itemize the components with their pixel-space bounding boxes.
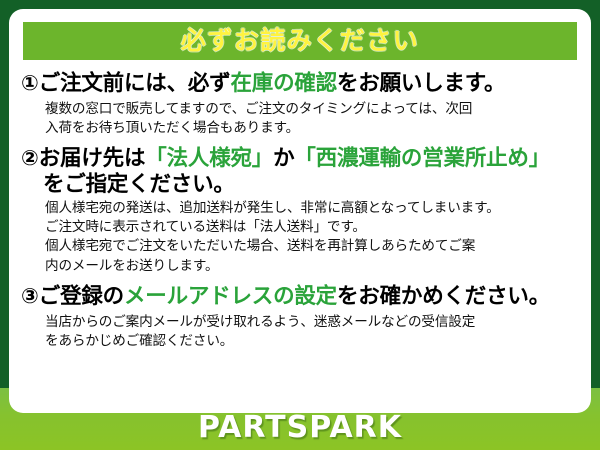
notice-item-3-body-line-1: をあらかじめご確認ください。	[45, 331, 581, 350]
notice-item-3-heading-part-0: ご登録の	[39, 284, 124, 308]
notice-item-3: ③ご登録のメールアドレスの設定をお確かめください。 当店からのご案内メールが受け…	[21, 284, 581, 350]
footer-logo: PARTSPARK	[0, 404, 600, 450]
notice-item-3-number: ③	[21, 285, 39, 308]
header-title: 必ずお読みください	[181, 29, 420, 54]
notice-item-1-heading-highlight: 在庫の確認	[230, 71, 337, 95]
notice-item-2: ②お届け先は「法人様宛」か「西濃運輸の営業所止め」 をご指定ください。 個人様宅…	[21, 146, 581, 275]
notice-item-3-body-line-0: 当店からのご案内メールが受け取れるよう、迷惑メールなどの受信設定	[45, 312, 581, 331]
notice-item-2-body-line-0: 個人様宅宛の発送は、追加送料が発生し、非常に高額となってしまいます。	[45, 198, 581, 217]
notice-item-3-heading-highlight: メールアドレスの設定	[124, 284, 337, 308]
notice-item-3-body: 当店からのご案内メールが受け取れるよう、迷惑メールなどの受信設定 をあらかじめご…	[21, 312, 581, 351]
notice-item-3-heading-part-2: をお確かめください。	[337, 284, 550, 308]
notice-item-2-heading-highlight-1: 「法人様宛」	[145, 146, 273, 170]
notice-item-1-body-line-0: 複数の窓口で販売してますので、ご注文のタイミングによっては、次回	[45, 99, 581, 118]
brand-logo-text: PARTSPARK	[198, 410, 402, 445]
notice-item-1-body-line-1: 入荷をお待ち頂いただく場合もあります。	[45, 118, 581, 137]
notice-item-1-heading-part-2: をお願いします。	[337, 71, 505, 95]
notice-item-2-heading-part-0: お届け先は	[39, 146, 146, 170]
notice-item-1-number: ①	[21, 72, 39, 95]
notice-item-2-body-line-3: 内のメールをお送りします。	[45, 256, 581, 275]
notice-item-3-heading: ③ご登録のメールアドレスの設定をお確かめください。	[21, 284, 581, 310]
notice-item-2-heading-part-2: か	[273, 146, 294, 170]
notice-item-2-body-line-2: 個人様宅宛でご注文をいただいた場合、送料を再計算しあらためてご案	[45, 236, 581, 255]
notice-item-1-heading: ①ご注文前には、必ず在庫の確認をお願いします。	[21, 71, 581, 97]
notice-item-1-body: 複数の窓口で販売してますので、ご注文のタイミングによっては、次回 入荷をお待ち頂…	[21, 99, 581, 138]
notice-item-2-body-line-1: ご注文時に表示されている送料は「法人送料」です。	[45, 217, 581, 236]
notice-item-2-number: ②	[21, 147, 39, 170]
header-bar: 必ずお読みください	[23, 22, 577, 60]
notice-banner: 必ずお読みください ①ご注文前には、必ず在庫の確認をお願いします。 複数の窓口で…	[0, 0, 600, 450]
notice-item-2-heading-line2: をご指定ください。	[21, 172, 581, 196]
notice-item-2-heading-highlight-2: 「西濃運輸の営業所止め」	[294, 146, 550, 170]
notice-item-2-body: 個人様宅宛の発送は、追加送料が発生し、非常に高額となってしまいます。 ご注文時に…	[21, 198, 581, 275]
notice-card: 必ずお読みください ①ご注文前には、必ず在庫の確認をお願いします。 複数の窓口で…	[9, 9, 591, 413]
notice-item-1-heading-part-0: ご注文前には、必ず	[39, 71, 231, 95]
notice-item-1: ①ご注文前には、必ず在庫の確認をお願いします。 複数の窓口で販売してますので、ご…	[21, 71, 581, 137]
notice-item-2-heading: ②お届け先は「法人様宛」か「西濃運輸の営業所止め」	[21, 146, 581, 172]
notice-content: ①ご注文前には、必ず在庫の確認をお願いします。 複数の窓口で販売してますので、ご…	[9, 67, 591, 350]
